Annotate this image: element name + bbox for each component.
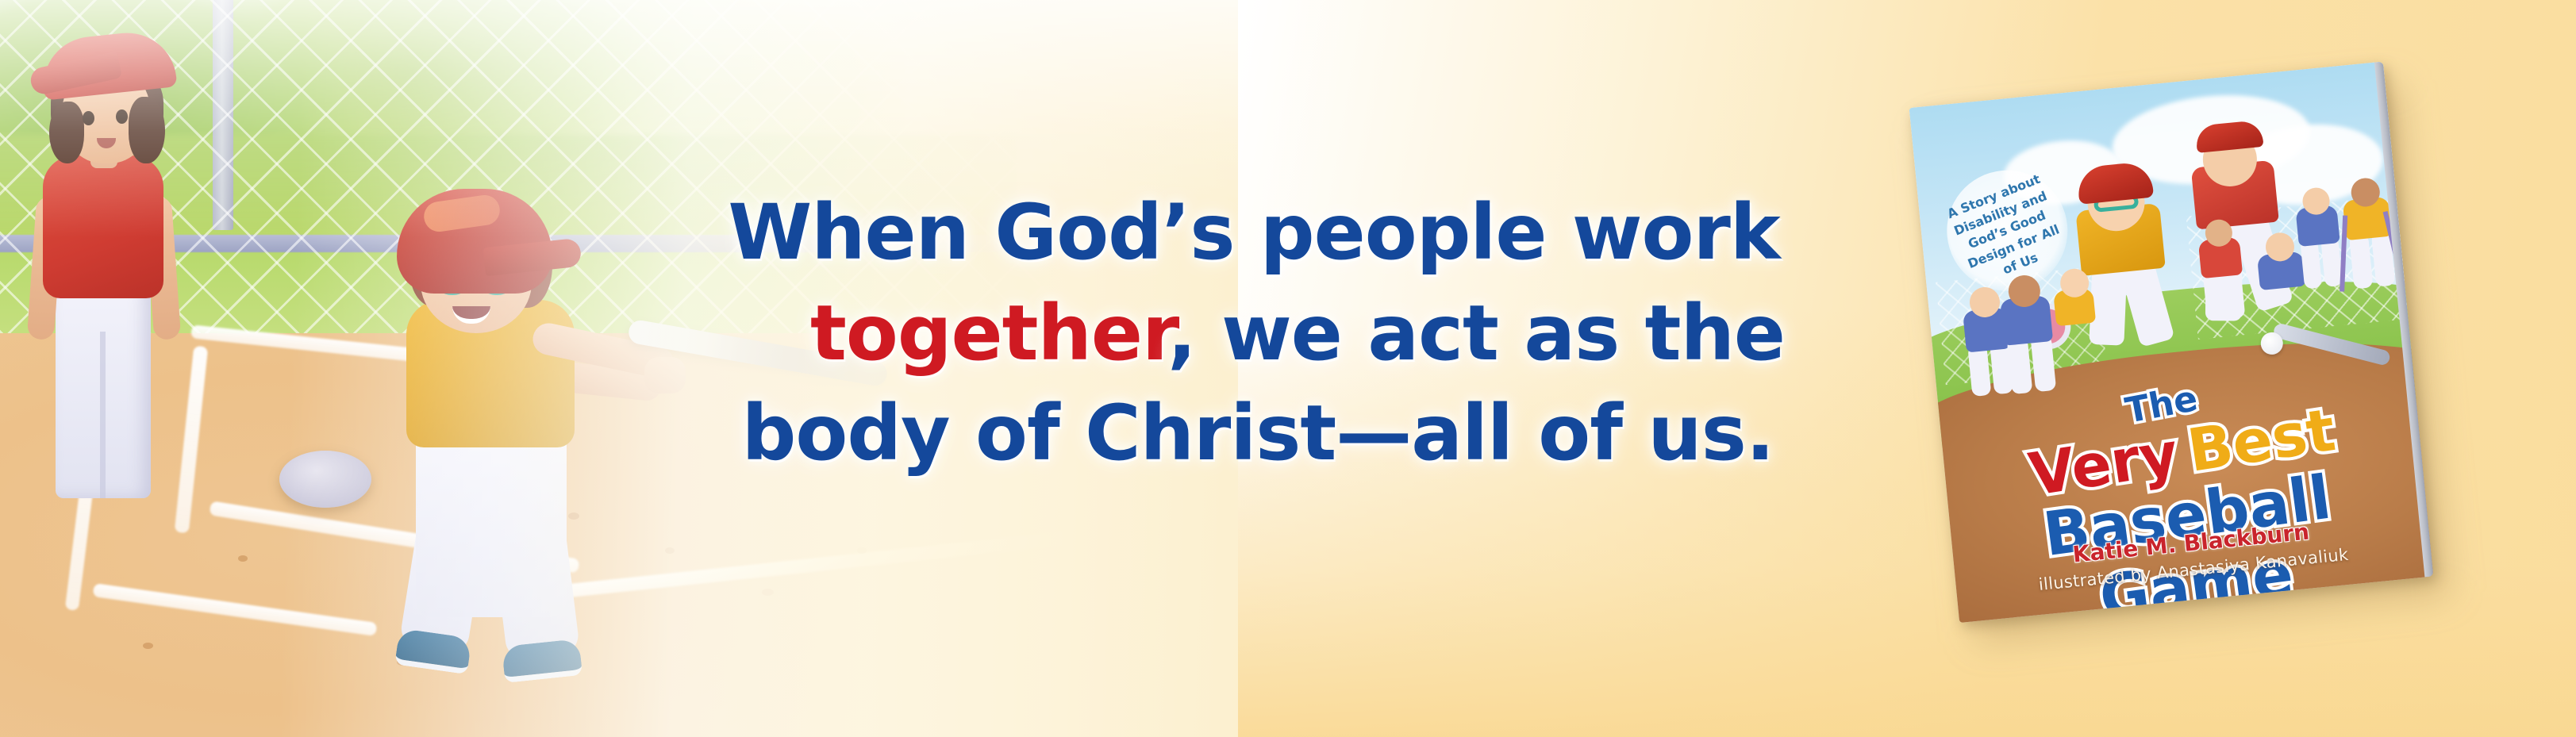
cover-teammate-leg [2031, 335, 2057, 392]
cover-teammate-child [1988, 272, 2067, 397]
cover-crutches-leg [2349, 233, 2374, 289]
book-front-cover: A Story about Disability and God’s Good … [1909, 62, 2434, 623]
headline: When God’s people work together, we act … [690, 182, 1817, 484]
headline-line-2: together, we act as the [690, 283, 1817, 384]
cover-fielder-child [2188, 217, 2253, 325]
headline-line-2-rest: , we act as the [1167, 289, 1785, 378]
cover-crutch [2340, 215, 2347, 291]
cover-teammate-leg [2007, 337, 2033, 394]
cover-runner-helmet [2076, 161, 2154, 205]
headline-emphasis-together: together [810, 289, 1167, 378]
book-cover[interactable]: A Story about Disability and God’s Good … [1909, 59, 2456, 656]
headline-line-3: body of Christ—all of us. [690, 383, 1817, 484]
promo-banner: When God’s people work together, we act … [0, 0, 2576, 737]
cover-teammate-leg [1967, 344, 1991, 397]
headline-line-1: When God’s people work [690, 182, 1817, 283]
